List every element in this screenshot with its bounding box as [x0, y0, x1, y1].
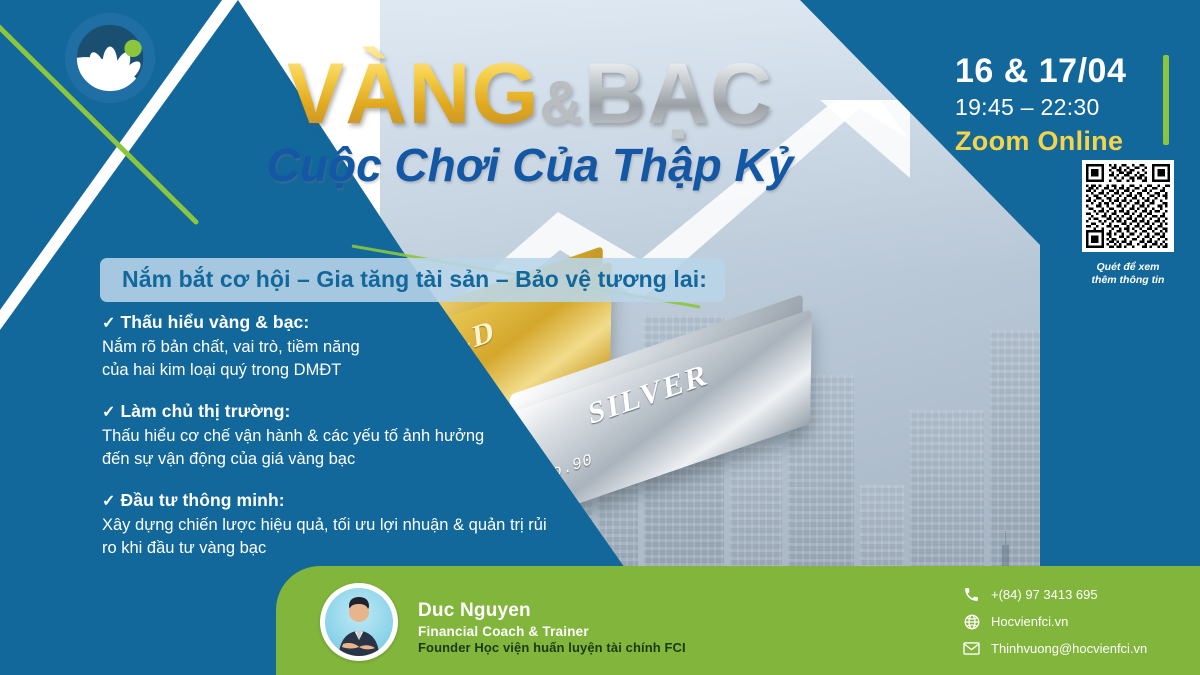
- contact-website-value: Hocvienfci.vn: [991, 614, 1068, 629]
- title-block: VÀNG&BẠC Cuộc Chơi Của Thập Kỷ: [250, 52, 810, 192]
- title-word-gold: VÀNG: [287, 46, 539, 142]
- bullet-body-line: ro khi đầu tư vàng bạc: [102, 537, 702, 560]
- bullet-body-line: đến sự vận động của giá vàng bạc: [102, 448, 702, 471]
- contact-list: +(84) 97 3413 695 Hocvienfci.vn Thinhv: [962, 585, 1200, 666]
- contact-phone-value: +(84) 97 3413 695: [991, 587, 1098, 602]
- bullet-heading: ✓Thấu hiểu vàng & bạc:: [102, 312, 702, 333]
- benefits-list: ✓Thấu hiểu vàng & bạc: Nắm rõ bản chất, …: [102, 312, 702, 579]
- event-platform: Zoom Online: [955, 126, 1155, 157]
- speaker-role: Financial Coach & Trainer: [418, 624, 686, 639]
- bullet-body: Nắm rõ bản chất, vai trò, tiềm năng của …: [102, 336, 702, 383]
- bullet-body: Thấu hiểu cơ chế vận hành & các yếu tố ả…: [102, 425, 702, 472]
- title-word-silver: BẠC: [584, 46, 773, 142]
- check-icon: ✓: [102, 491, 116, 511]
- list-item: ✓Đầu tư thông minh: Xây dựng chiến lược …: [102, 490, 702, 561]
- qr-caption-line2: thêm thông tin: [1078, 274, 1178, 287]
- bullet-heading-text: Thấu hiểu vàng & bạc:: [121, 312, 310, 332]
- speaker-info: Duc Nguyen Financial Coach & Trainer Fou…: [418, 600, 686, 655]
- bullet-body-line: của hai kim loại quý trong DMĐT: [102, 359, 702, 382]
- bullet-body-line: Nắm rõ bản chất, vai trò, tiềm năng: [102, 336, 702, 359]
- qr-block: Quét để xem thêm thông tin: [1078, 160, 1178, 287]
- bullet-heading: ✓Đầu tư thông minh:: [102, 490, 702, 511]
- qr-caption-line1: Quét để xem: [1078, 261, 1178, 274]
- main-title: VÀNG&BẠC: [250, 52, 810, 136]
- subtitle: Cuộc Chơi Của Thập Kỷ: [250, 138, 810, 192]
- bullet-heading: ✓Làm chủ thị trường:: [102, 401, 702, 422]
- speaker-avatar-image: [325, 588, 393, 656]
- contact-phone[interactable]: +(84) 97 3413 695: [962, 585, 1200, 604]
- speaker-name: Duc Nguyen: [418, 600, 686, 622]
- lotus-circle-logo-icon: [62, 10, 158, 106]
- event-schedule-block: 16 & 17/04 19:45 – 22:30 Zoom Online: [955, 52, 1155, 157]
- contact-email[interactable]: Thinhvuong@hocvienfci.vn: [962, 639, 1200, 658]
- check-icon: ✓: [102, 313, 116, 333]
- qr-caption: Quét để xem thêm thông tin: [1078, 261, 1178, 287]
- green-vertical-accent-bar: [1163, 55, 1169, 145]
- bullet-body: Xây dựng chiến lược hiệu quả, tối ưu lợi…: [102, 514, 702, 561]
- bullet-body-line: Thấu hiểu cơ chế vận hành & các yếu tố ả…: [102, 425, 702, 448]
- event-dates: 16 & 17/04: [955, 52, 1155, 91]
- phone-icon: [962, 585, 981, 604]
- bullet-body-line: Xây dựng chiến lược hiệu quả, tối ưu lợi…: [102, 514, 702, 537]
- avatar: [320, 583, 398, 661]
- event-time: 19:45 – 22:30: [955, 94, 1155, 121]
- speaker-organization: Founder Học viện huấn luyện tài chính FC…: [418, 640, 686, 655]
- poster-canvas: GOLD 03.59 SILVER no.90: [0, 0, 1200, 675]
- contact-email-value: Thinhvuong@hocvienfci.vn: [991, 641, 1147, 656]
- contact-website[interactable]: Hocvienfci.vn: [962, 612, 1200, 631]
- list-item: ✓Thấu hiểu vàng & bạc: Nắm rõ bản chất, …: [102, 312, 702, 383]
- globe-icon: [962, 612, 981, 631]
- bullet-heading-text: Làm chủ thị trường:: [121, 401, 291, 421]
- check-icon: ✓: [102, 402, 116, 422]
- highlight-banner: Nắm bắt cơ hội – Gia tăng tài sản – Bảo …: [100, 258, 725, 302]
- list-item: ✓Làm chủ thị trường: Thấu hiểu cơ chế vậ…: [102, 401, 702, 472]
- envelope-icon: [962, 639, 981, 658]
- qr-code[interactable]: [1082, 160, 1174, 252]
- title-ampersand: &: [539, 69, 583, 136]
- bullet-heading-text: Đầu tư thông minh:: [121, 490, 285, 510]
